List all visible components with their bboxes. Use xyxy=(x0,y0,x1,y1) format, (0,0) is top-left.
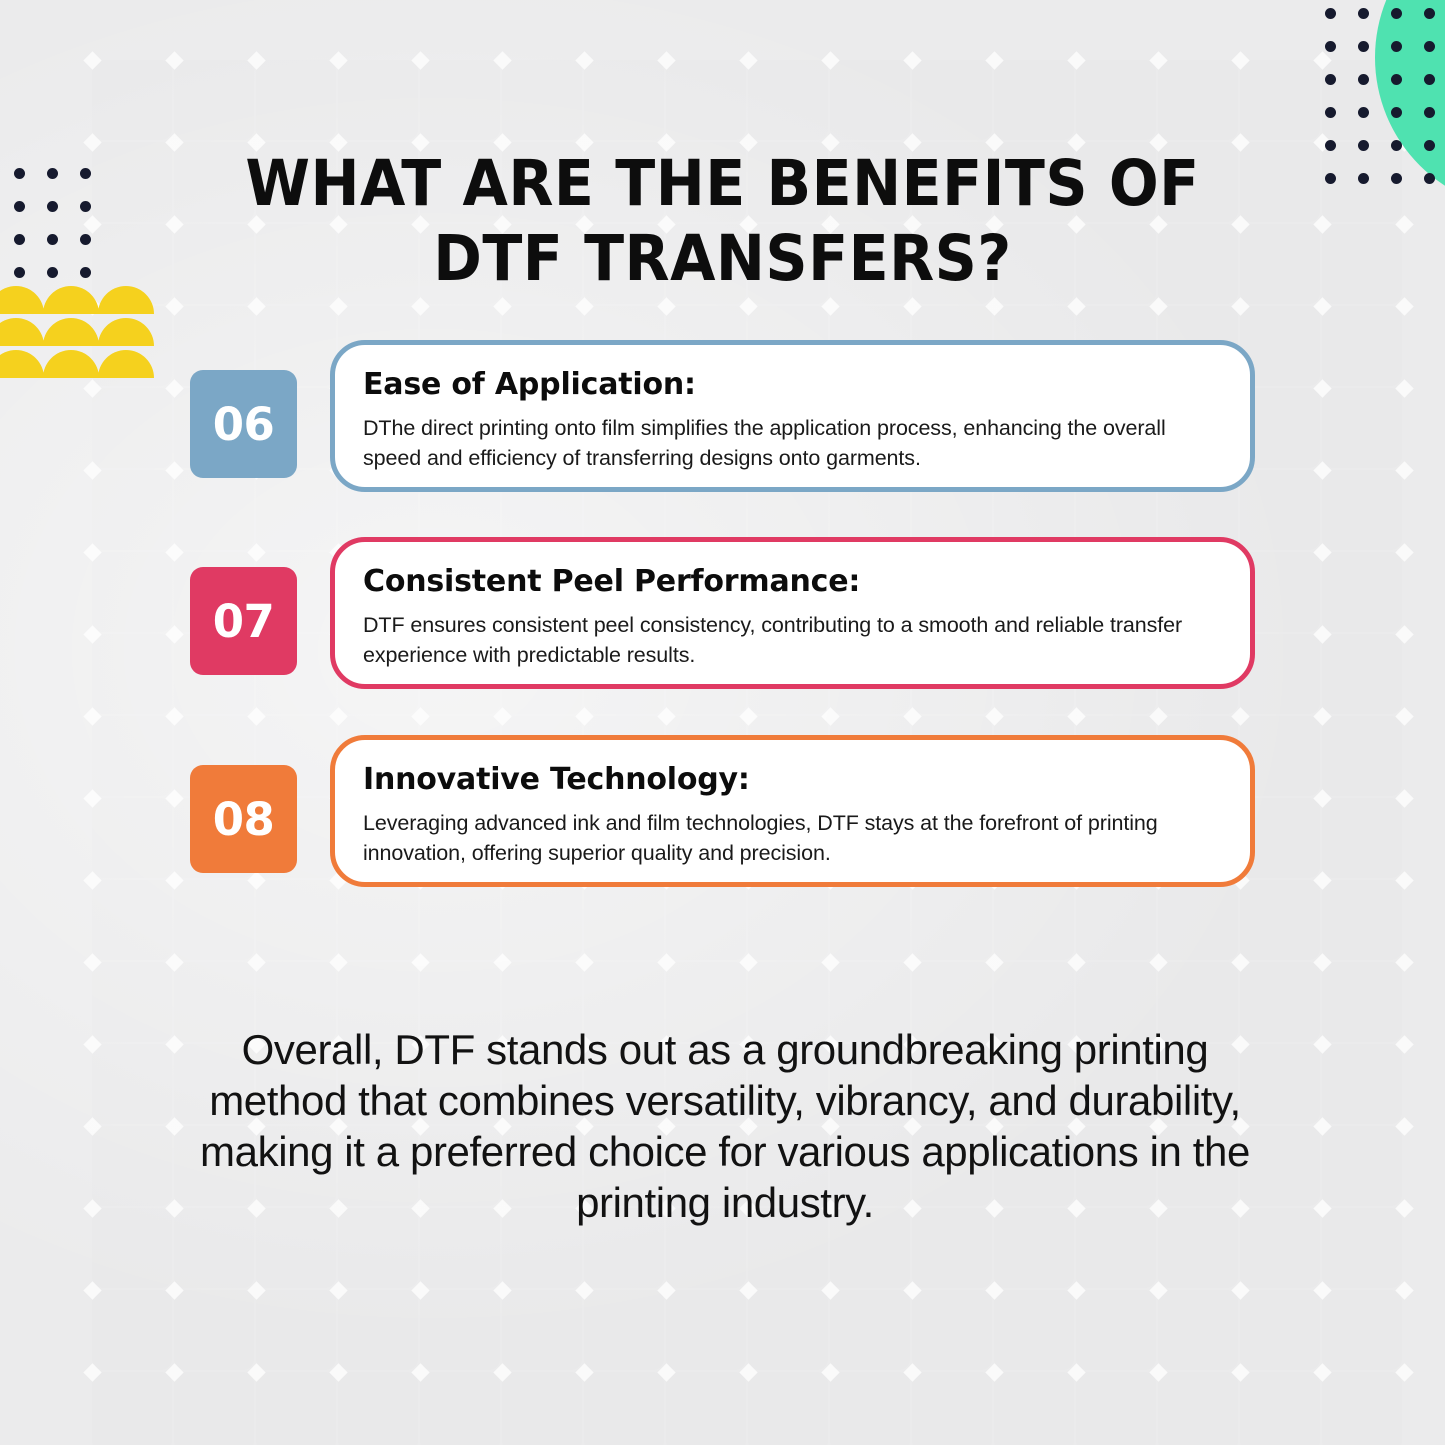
decorative-dot xyxy=(1424,41,1435,52)
decorative-dot xyxy=(1358,173,1369,184)
grid-diamond xyxy=(1313,871,1331,889)
grid-diamond xyxy=(83,51,101,69)
grid-tile xyxy=(1158,1290,1238,1370)
grid-tile xyxy=(830,1372,910,1445)
grid-diamond xyxy=(83,1035,101,1053)
yellow-semicircle xyxy=(0,350,44,378)
grid-tile xyxy=(420,1372,500,1445)
grid-tile xyxy=(1322,1372,1402,1445)
grid-diamond xyxy=(165,1363,183,1381)
grid-diamond xyxy=(83,1199,101,1217)
grid-diamond xyxy=(411,953,429,971)
grid-diamond xyxy=(1313,215,1331,233)
grid-diamond xyxy=(1231,297,1249,315)
grid-diamond xyxy=(329,953,347,971)
grid-diamond xyxy=(1395,625,1413,643)
grid-tile xyxy=(174,1372,254,1445)
grid-diamond xyxy=(985,51,1003,69)
grid-tile xyxy=(994,60,1074,140)
grid-tile xyxy=(1322,880,1402,960)
grid-diamond xyxy=(1395,1199,1413,1217)
grid-diamond xyxy=(83,953,101,971)
grid-diamond xyxy=(493,297,511,315)
grid-diamond xyxy=(329,297,347,315)
yellow-semicircle xyxy=(0,286,44,314)
grid-diamond xyxy=(411,297,429,315)
benefit-body-07: DTF ensures consistent peel consistency,… xyxy=(363,610,1183,670)
grid-tile xyxy=(1322,1208,1402,1288)
decorative-dot xyxy=(80,201,91,212)
grid-diamond xyxy=(1149,1281,1167,1299)
benefit-number-label-06: 06 xyxy=(213,398,275,451)
decorative-dot xyxy=(14,201,25,212)
grid-diamond xyxy=(1395,1035,1413,1053)
benefit-row-07: 07 Consistent Peel Performance: DTF ensu… xyxy=(190,537,1265,717)
benefit-row-06: 06 Ease of Application: DThe direct prin… xyxy=(190,340,1265,520)
closing-paragraph: Overall, DTF stands out as a groundbreak… xyxy=(175,1024,1275,1228)
decorative-dot xyxy=(1358,8,1369,19)
grid-diamond xyxy=(493,1281,511,1299)
grid-diamond xyxy=(165,297,183,315)
benefit-body-06: DThe direct printing onto film simplifie… xyxy=(363,413,1183,473)
grid-diamond xyxy=(83,871,101,889)
grid-tile xyxy=(338,1290,418,1370)
grid-diamond xyxy=(1149,51,1167,69)
yellow-semicircle xyxy=(98,286,154,314)
decorative-dot xyxy=(1325,74,1336,85)
grid-tile xyxy=(584,60,664,140)
grid-diamond xyxy=(1313,1035,1331,1053)
decorative-dot xyxy=(1391,107,1402,118)
benefit-heading-07: Consistent Peel Performance: xyxy=(363,564,1220,600)
grid-diamond xyxy=(657,1281,675,1299)
benefit-heading-08: Innovative Technology: xyxy=(363,762,1220,798)
grid-diamond xyxy=(493,953,511,971)
grid-diamond xyxy=(83,133,101,151)
grid-diamond xyxy=(83,1281,101,1299)
grid-tile xyxy=(92,1126,172,1206)
grid-tile xyxy=(1322,716,1402,796)
decorative-dot xyxy=(1391,74,1402,85)
grid-diamond xyxy=(1313,625,1331,643)
grid-diamond xyxy=(1395,707,1413,725)
grid-diamond xyxy=(165,543,183,561)
grid-diamond xyxy=(329,1281,347,1299)
grid-tile xyxy=(1322,552,1402,632)
grid-diamond xyxy=(1149,953,1167,971)
grid-diamond xyxy=(821,953,839,971)
grid-diamond xyxy=(165,625,183,643)
grid-tile xyxy=(256,60,336,140)
decorative-dot xyxy=(14,168,25,179)
yellow-semicircle-cluster-icon xyxy=(0,286,153,386)
grid-diamond xyxy=(575,51,593,69)
grid-diamond xyxy=(1395,215,1413,233)
grid-diamond xyxy=(985,1281,1003,1299)
grid-diamond xyxy=(1313,789,1331,807)
grid-tile xyxy=(338,1372,418,1445)
benefit-heading-06: Ease of Application: xyxy=(363,367,1220,403)
grid-diamond xyxy=(83,461,101,479)
grid-diamond xyxy=(493,1363,511,1381)
grid-tile xyxy=(1240,142,1320,222)
benefit-card-07[interactable]: Consistent Peel Performance: DTF ensures… xyxy=(330,537,1255,689)
grid-diamond xyxy=(739,1363,757,1381)
yellow-semicircle xyxy=(0,318,44,346)
grid-tile xyxy=(666,60,746,140)
grid-diamond xyxy=(1395,1281,1413,1299)
grid-diamond xyxy=(329,1363,347,1381)
grid-diamond xyxy=(165,871,183,889)
decorative-dot xyxy=(1325,41,1336,52)
yellow-semicircle xyxy=(98,318,154,346)
grid-diamond xyxy=(657,1363,675,1381)
grid-diamond xyxy=(165,51,183,69)
benefit-number-label-07: 07 xyxy=(213,595,275,648)
grid-diamond xyxy=(83,707,101,725)
grid-diamond xyxy=(165,461,183,479)
grid-tile xyxy=(830,60,910,140)
grid-tile xyxy=(1322,470,1402,550)
benefit-number-label-08: 08 xyxy=(213,793,275,846)
decorative-dot xyxy=(1325,107,1336,118)
grid-diamond xyxy=(411,1363,429,1381)
grid-tile xyxy=(912,60,992,140)
grid-tile xyxy=(1076,1372,1156,1445)
page-title: WHAT ARE THE BENEFITS OF DTF TRANSFERS? xyxy=(218,146,1227,296)
grid-diamond xyxy=(493,51,511,69)
grid-diamond xyxy=(1231,215,1249,233)
grid-diamond xyxy=(657,51,675,69)
grid-diamond xyxy=(411,1281,429,1299)
grid-tile xyxy=(256,1290,336,1370)
grid-tile xyxy=(1322,1290,1402,1370)
grid-diamond xyxy=(739,1281,757,1299)
grid-diamond xyxy=(1231,51,1249,69)
grid-diamond xyxy=(1067,1363,1085,1381)
benefit-card-06[interactable]: Ease of Application: DThe direct printin… xyxy=(330,340,1255,492)
grid-diamond xyxy=(1395,1117,1413,1135)
decorative-dot xyxy=(47,267,58,278)
grid-diamond xyxy=(1395,297,1413,315)
grid-tile xyxy=(584,1290,664,1370)
grid-diamond xyxy=(1067,1281,1085,1299)
grid-diamond xyxy=(411,51,429,69)
grid-tile xyxy=(92,880,172,960)
grid-diamond xyxy=(1395,461,1413,479)
benefit-card-08[interactable]: Innovative Technology: Leveraging advanc… xyxy=(330,735,1255,887)
decorative-dot xyxy=(47,234,58,245)
decorative-dot xyxy=(1358,140,1369,151)
grid-diamond xyxy=(247,1363,265,1381)
grid-tile xyxy=(1322,388,1402,468)
grid-tile xyxy=(92,634,172,714)
grid-tile xyxy=(92,716,172,796)
grid-diamond xyxy=(821,1281,839,1299)
decorative-dot xyxy=(1391,41,1402,52)
grid-diamond xyxy=(1313,953,1331,971)
grid-tile xyxy=(92,552,172,632)
grid-tile xyxy=(92,962,172,1042)
decorative-dot xyxy=(14,267,25,278)
grid-diamond xyxy=(657,297,675,315)
grid-diamond xyxy=(1313,543,1331,561)
grid-tile xyxy=(256,1372,336,1445)
grid-diamond xyxy=(903,953,921,971)
decorative-dot xyxy=(1325,8,1336,19)
grid-diamond xyxy=(739,51,757,69)
grid-diamond xyxy=(165,707,183,725)
grid-diamond xyxy=(1395,789,1413,807)
decorative-dot xyxy=(1391,140,1402,151)
grid-diamond xyxy=(1395,379,1413,397)
grid-diamond xyxy=(903,297,921,315)
grid-tile xyxy=(748,1372,828,1445)
decorative-dot xyxy=(1424,74,1435,85)
grid-diamond xyxy=(247,297,265,315)
grid-diamond xyxy=(165,133,183,151)
yellow-semicircle xyxy=(43,318,99,346)
decorative-dot xyxy=(1391,173,1402,184)
grid-tile xyxy=(502,1372,582,1445)
decorative-dot xyxy=(14,234,25,245)
grid-diamond xyxy=(83,1117,101,1135)
grid-tile xyxy=(174,60,254,140)
grid-diamond xyxy=(247,51,265,69)
grid-diamond xyxy=(1313,1199,1331,1217)
grid-diamond xyxy=(903,1281,921,1299)
grid-diamond xyxy=(1313,379,1331,397)
grid-tile xyxy=(1322,634,1402,714)
grid-tile xyxy=(1240,224,1320,304)
grid-tile xyxy=(748,1290,828,1370)
grid-tile xyxy=(338,60,418,140)
grid-diamond xyxy=(821,297,839,315)
grid-diamond xyxy=(739,297,757,315)
grid-diamond xyxy=(83,1363,101,1381)
grid-diamond xyxy=(985,1363,1003,1381)
grid-diamond xyxy=(1395,871,1413,889)
grid-diamond xyxy=(1395,953,1413,971)
grid-diamond xyxy=(575,1363,593,1381)
decorative-dot xyxy=(1325,140,1336,151)
grid-diamond xyxy=(1313,1363,1331,1381)
grid-diamond xyxy=(1067,51,1085,69)
grid-diamond xyxy=(1231,953,1249,971)
grid-diamond xyxy=(83,789,101,807)
grid-diamond xyxy=(1313,1281,1331,1299)
decorative-dot xyxy=(1424,8,1435,19)
decorative-dot xyxy=(80,267,91,278)
grid-tile xyxy=(1322,1044,1402,1124)
grid-diamond xyxy=(739,953,757,971)
decorative-dot xyxy=(1391,8,1402,19)
grid-diamond xyxy=(1231,1281,1249,1299)
grid-tile xyxy=(912,1290,992,1370)
grid-tile xyxy=(174,1290,254,1370)
decorative-dot xyxy=(1424,107,1435,118)
grid-tile xyxy=(748,60,828,140)
decorative-dot xyxy=(1424,173,1435,184)
grid-diamond xyxy=(165,1281,183,1299)
grid-diamond xyxy=(821,51,839,69)
grid-tile xyxy=(1240,1372,1320,1445)
grid-diamond xyxy=(575,297,593,315)
grid-tile xyxy=(584,1372,664,1445)
grid-tile xyxy=(502,1290,582,1370)
grid-diamond xyxy=(985,297,1003,315)
grid-diamond xyxy=(1313,1117,1331,1135)
grid-tile xyxy=(1322,1126,1402,1206)
grid-tile xyxy=(1240,60,1320,140)
grid-diamond xyxy=(821,1363,839,1381)
grid-diamond xyxy=(575,953,593,971)
grid-tile xyxy=(1076,60,1156,140)
grid-diamond xyxy=(903,51,921,69)
yellow-semicircle xyxy=(43,350,99,378)
grid-diamond xyxy=(83,625,101,643)
grid-diamond xyxy=(1313,707,1331,725)
grid-diamond xyxy=(1395,543,1413,561)
decorative-dot xyxy=(47,201,58,212)
grid-diamond xyxy=(1231,133,1249,151)
grid-tile xyxy=(92,470,172,550)
grid-tile xyxy=(666,1290,746,1370)
infographic-canvas: WHAT ARE THE BENEFITS OF DTF TRANSFERS? … xyxy=(0,0,1445,1445)
grid-tile xyxy=(92,1208,172,1288)
grid-diamond xyxy=(575,1281,593,1299)
benefit-number-badge-07: 07 xyxy=(190,567,297,675)
grid-tile xyxy=(994,1372,1074,1445)
yellow-semicircle xyxy=(43,286,99,314)
grid-tile xyxy=(1240,1290,1320,1370)
grid-diamond xyxy=(165,953,183,971)
grid-diamond xyxy=(1067,953,1085,971)
grid-tile xyxy=(666,1372,746,1445)
decorative-dot xyxy=(80,168,91,179)
grid-tile xyxy=(912,1372,992,1445)
grid-tile xyxy=(92,1290,172,1370)
grid-tile xyxy=(1076,1290,1156,1370)
benefit-body-08: Leveraging advanced ink and film technol… xyxy=(363,808,1183,868)
grid-diamond xyxy=(1313,297,1331,315)
decorative-dot xyxy=(80,234,91,245)
grid-diamond xyxy=(985,953,1003,971)
grid-diamond xyxy=(165,379,183,397)
grid-tile xyxy=(1322,962,1402,1042)
grid-diamond xyxy=(1395,1363,1413,1381)
grid-tile xyxy=(92,1372,172,1445)
grid-tile xyxy=(1322,306,1402,386)
grid-tile xyxy=(92,142,172,222)
grid-tile xyxy=(1158,1372,1238,1445)
grid-diamond xyxy=(247,1281,265,1299)
grid-tile xyxy=(830,1290,910,1370)
decorative-dot xyxy=(1358,74,1369,85)
grid-tile xyxy=(92,798,172,878)
grid-tile xyxy=(1158,60,1238,140)
decorative-dot xyxy=(1424,140,1435,151)
grid-tile xyxy=(92,1044,172,1124)
dot-grid-top-right-icon xyxy=(1325,8,1445,178)
grid-diamond xyxy=(329,51,347,69)
grid-diamond xyxy=(1149,1363,1167,1381)
grid-diamond xyxy=(247,953,265,971)
grid-diamond xyxy=(165,789,183,807)
grid-tile xyxy=(92,388,172,468)
decorative-dot xyxy=(1358,107,1369,118)
grid-tile xyxy=(502,60,582,140)
grid-tile xyxy=(1322,798,1402,878)
grid-diamond xyxy=(903,1363,921,1381)
decorative-dot xyxy=(1358,41,1369,52)
grid-tile xyxy=(420,1290,500,1370)
grid-tile xyxy=(994,1290,1074,1370)
grid-diamond xyxy=(1067,297,1085,315)
grid-diamond xyxy=(1149,297,1167,315)
decorative-dot xyxy=(1325,173,1336,184)
grid-tile xyxy=(1322,224,1402,304)
grid-diamond xyxy=(165,215,183,233)
yellow-semicircle xyxy=(98,350,154,378)
grid-diamond xyxy=(657,953,675,971)
grid-diamond xyxy=(1313,461,1331,479)
grid-tile xyxy=(92,60,172,140)
grid-diamond xyxy=(83,543,101,561)
grid-tile xyxy=(420,60,500,140)
grid-diamond xyxy=(1231,1363,1249,1381)
benefit-row-08: 08 Innovative Technology: Leveraging adv… xyxy=(190,735,1265,915)
decorative-dot xyxy=(47,168,58,179)
benefit-number-badge-08: 08 xyxy=(190,765,297,873)
benefit-number-badge-06: 06 xyxy=(190,370,297,478)
